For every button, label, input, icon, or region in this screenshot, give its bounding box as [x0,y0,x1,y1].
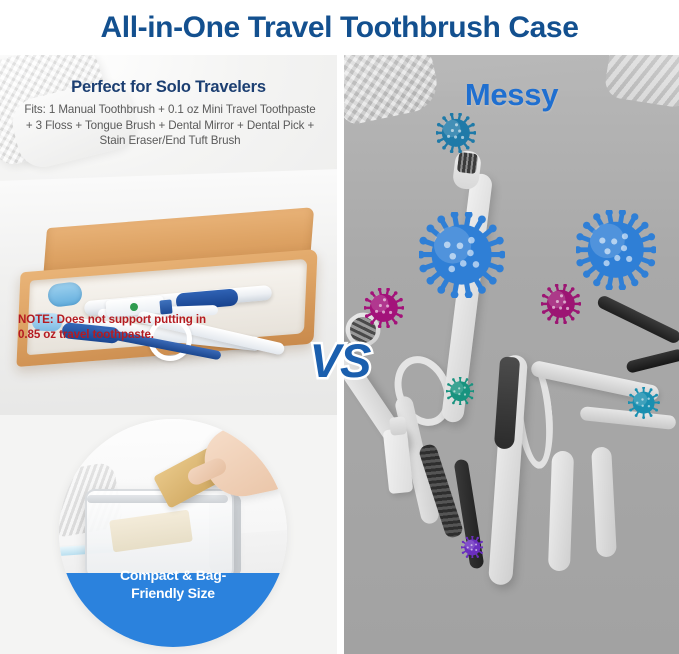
banner-line-1: Compact & Bag- [59,566,287,584]
germ-purple-bottom [461,536,484,559]
scattered-handle-4 [548,451,574,572]
messy-label: Messy [344,77,679,113]
vs-badge: VS [290,330,390,390]
compact-bag-photo [59,419,287,647]
germ-cyan-right [628,387,659,418]
page-title: All-in-One Travel Toothbrush Case [101,13,579,43]
germ-magenta-right [541,284,581,324]
vs-label: VS [310,337,371,384]
germ-teal-top [436,113,476,153]
banner-line-2: Friendly Size [59,584,287,602]
fits-list-text: Fits: 1 Manual Toothbrush + 0.1 oz Mini … [20,102,320,149]
germ-magenta-left [364,288,404,328]
header-band: All-in-One Travel Toothbrush Case [0,0,679,55]
messy-panel: Messy [344,55,679,654]
germ-blue-large-left [419,212,504,297]
bottom-left-panel: Compact & Bag- Friendly Size [0,415,337,654]
mesh-bag-zipper [87,495,228,503]
scattered-toothbrush-center-bristles [457,152,478,174]
germ-blue-large-right [576,210,656,290]
left-product-panel: Perfect for Solo Travelers Fits: 1 Manua… [0,55,337,415]
marketing-image: All-in-One Travel Toothbrush Case Perfec… [0,0,679,654]
scattered-toothpaste-cap [389,416,407,436]
note-text: NOTE: Does not support putting in 0.85 o… [18,313,208,342]
solo-travelers-heading: Perfect for Solo Travelers [0,78,337,97]
germ-green-small [446,377,474,405]
compact-banner-text: Compact & Bag- Friendly Size [59,566,287,602]
